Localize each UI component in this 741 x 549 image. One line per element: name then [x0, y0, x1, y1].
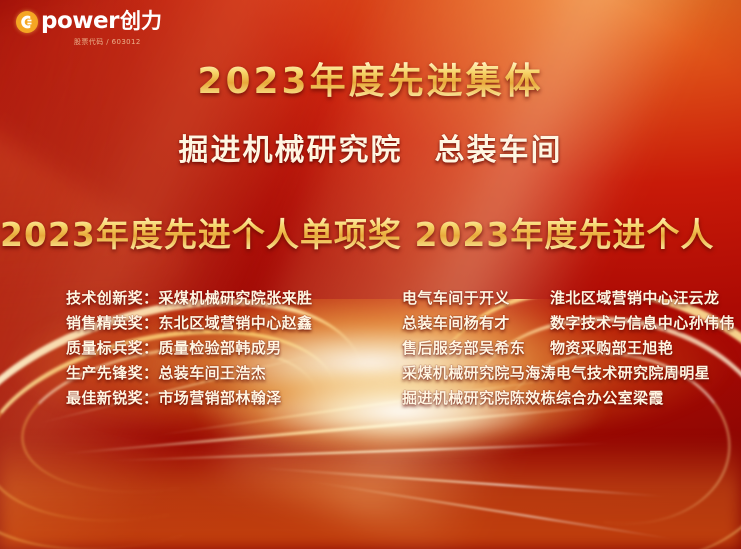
award-columns: 技术创新奖：采煤机械研究院张来胜 销售精英奖：东北区域营销中心赵鑫 质量标兵奖：…	[0, 286, 741, 411]
logo-word-power: power	[41, 10, 119, 33]
logo-word-chinese: 创力	[120, 11, 162, 32]
page-subtitle: 掘进机械研究院 总装车间	[0, 134, 741, 167]
person-name: 电气车间于开义	[402, 286, 550, 311]
power-circle-icon	[16, 11, 38, 33]
list-item: 总装车间杨有才 数字技术与信息中心孙伟伟	[402, 311, 741, 336]
list-item: 电气车间于开义 淮北区域营销中心汪云龙	[402, 286, 741, 311]
logo-wordmark-row: power 创力	[16, 10, 162, 33]
section-headers: 2023年度先进个人单项奖 2023年度先进个人	[0, 216, 741, 254]
list-item: 掘进机械研究院陈效栋 综合办公室梁霞	[402, 386, 741, 411]
person-name: 售后服务部吴希东	[402, 336, 550, 361]
page-title: 2023年度先进集体	[0, 62, 741, 102]
person-name: 掘进机械研究院陈效栋	[402, 386, 556, 411]
list-item: 生产先锋奖：总装车间王浩杰	[66, 361, 392, 386]
company-logo: power 创力 股票代码 / 603012	[16, 10, 162, 47]
list-item: 销售精英奖：东北区域营销中心赵鑫	[66, 311, 392, 336]
person-name: 总装车间杨有才	[402, 311, 550, 336]
list-item: 质量标兵奖：质量检验部韩成男	[66, 336, 392, 361]
person-name: 采煤机械研究院马海涛	[402, 361, 556, 386]
person-name: 物资采购部王旭艳	[550, 336, 741, 361]
list-item: 采煤机械研究院马海涛 电气技术研究院周明星	[402, 361, 741, 386]
list-item: 技术创新奖：采煤机械研究院张来胜	[66, 286, 392, 311]
individuals-list: 电气车间于开义 淮北区域营销中心汪云龙 总装车间杨有才 数字技术与信息中心孙伟伟…	[392, 286, 741, 411]
person-name: 综合办公室梁霞	[556, 386, 741, 411]
person-name: 淮北区域营销中心汪云龙	[550, 286, 741, 311]
list-item: 最佳新锐奖：市场营销部林翰泽	[66, 386, 392, 411]
person-name: 电气技术研究院周明星	[556, 361, 741, 386]
list-item: 售后服务部吴希东 物资采购部王旭艳	[402, 336, 741, 361]
person-name: 数字技术与信息中心孙伟伟	[550, 311, 741, 336]
section-header-special-awards: 2023年度先进个人单项奖	[0, 216, 402, 254]
section-header-individuals: 2023年度先进个人	[402, 216, 741, 254]
award-poster: power 创力 股票代码 / 603012 2023年度先进集体 掘进机械研究…	[0, 0, 741, 549]
special-awards-list: 技术创新奖：采煤机械研究院张来胜 销售精英奖：东北区域营销中心赵鑫 质量标兵奖：…	[0, 286, 392, 411]
stock-code-label: 股票代码 / 603012	[74, 37, 141, 47]
